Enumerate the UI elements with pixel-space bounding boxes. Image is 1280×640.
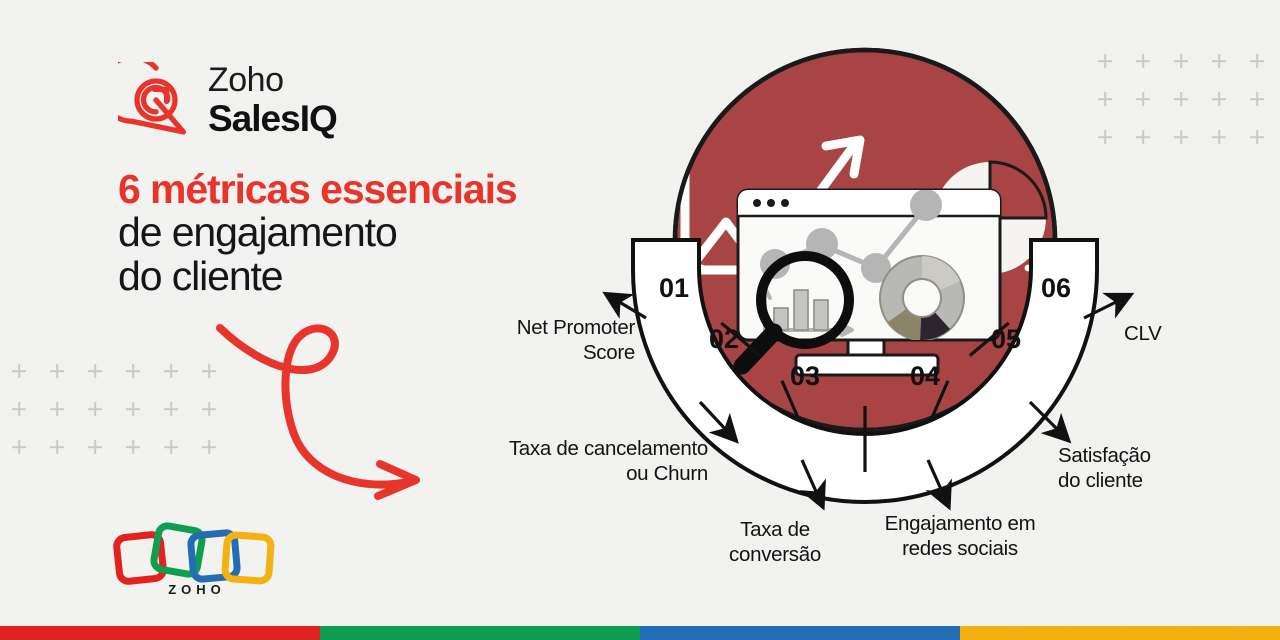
plus-pattern-left (10, 362, 238, 476)
colorbar-segment-green (320, 626, 640, 640)
brand-colorbar (0, 626, 1280, 640)
segment-number-04: 04 (910, 361, 940, 391)
zoho-logo-text: ZOHO (168, 582, 226, 597)
plus-glyph (162, 438, 180, 456)
plus-glyph (86, 400, 104, 418)
label-churn-rate: Taxa de cancelamento ou Churn (390, 437, 708, 486)
plus-glyph (10, 438, 28, 456)
plus-glyph (124, 400, 142, 418)
donut-chart-icon (880, 256, 964, 340)
plus-glyph (48, 438, 66, 456)
colorbar-segment-red (0, 626, 320, 640)
salesiq-logo-icon (118, 62, 194, 138)
zoho-four-squares-icon (116, 525, 272, 583)
plus-glyph (86, 362, 104, 380)
infographic-canvas: Zoho SalesIQ 6 métricas essenciais de en… (0, 0, 1280, 640)
plus-glyph (124, 362, 142, 380)
label-conversion-rate: Taxa de conversão (700, 518, 850, 567)
plus-glyph (162, 400, 180, 418)
brand-name-salesiq: SalesIQ (208, 100, 337, 137)
plus-glyph (10, 362, 28, 380)
plus-glyph (10, 400, 28, 418)
plus-glyph (48, 362, 66, 380)
label-clv: CLV (1124, 322, 1244, 347)
segment-number-05: 05 (991, 324, 1021, 354)
colorbar-segment-yellow (960, 626, 1280, 640)
colorbar-segment-blue (640, 626, 960, 640)
plus-glyph (162, 362, 180, 380)
brand-logo[interactable]: Zoho SalesIQ (118, 62, 337, 138)
brand-name-zoho: Zoho (208, 63, 337, 97)
segment-number-06: 06 (1041, 273, 1071, 303)
label-customer-satisfaction: Satisfação do cliente (1058, 444, 1258, 493)
plus-glyph (48, 400, 66, 418)
segment-number-02: 02 (709, 324, 739, 354)
label-social-engagement: Engajamento em redes sociais (862, 512, 1058, 561)
segment-number-01: 01 (659, 273, 689, 303)
plus-glyph (124, 438, 142, 456)
zoho-logo[interactable]: ZOHO (112, 518, 282, 598)
segment-number-03: 03 (790, 361, 820, 391)
label-net-promoter-score: Net Promoter Score (420, 316, 635, 365)
brand-wordmark: Zoho SalesIQ (208, 63, 337, 137)
plus-glyph (86, 438, 104, 456)
